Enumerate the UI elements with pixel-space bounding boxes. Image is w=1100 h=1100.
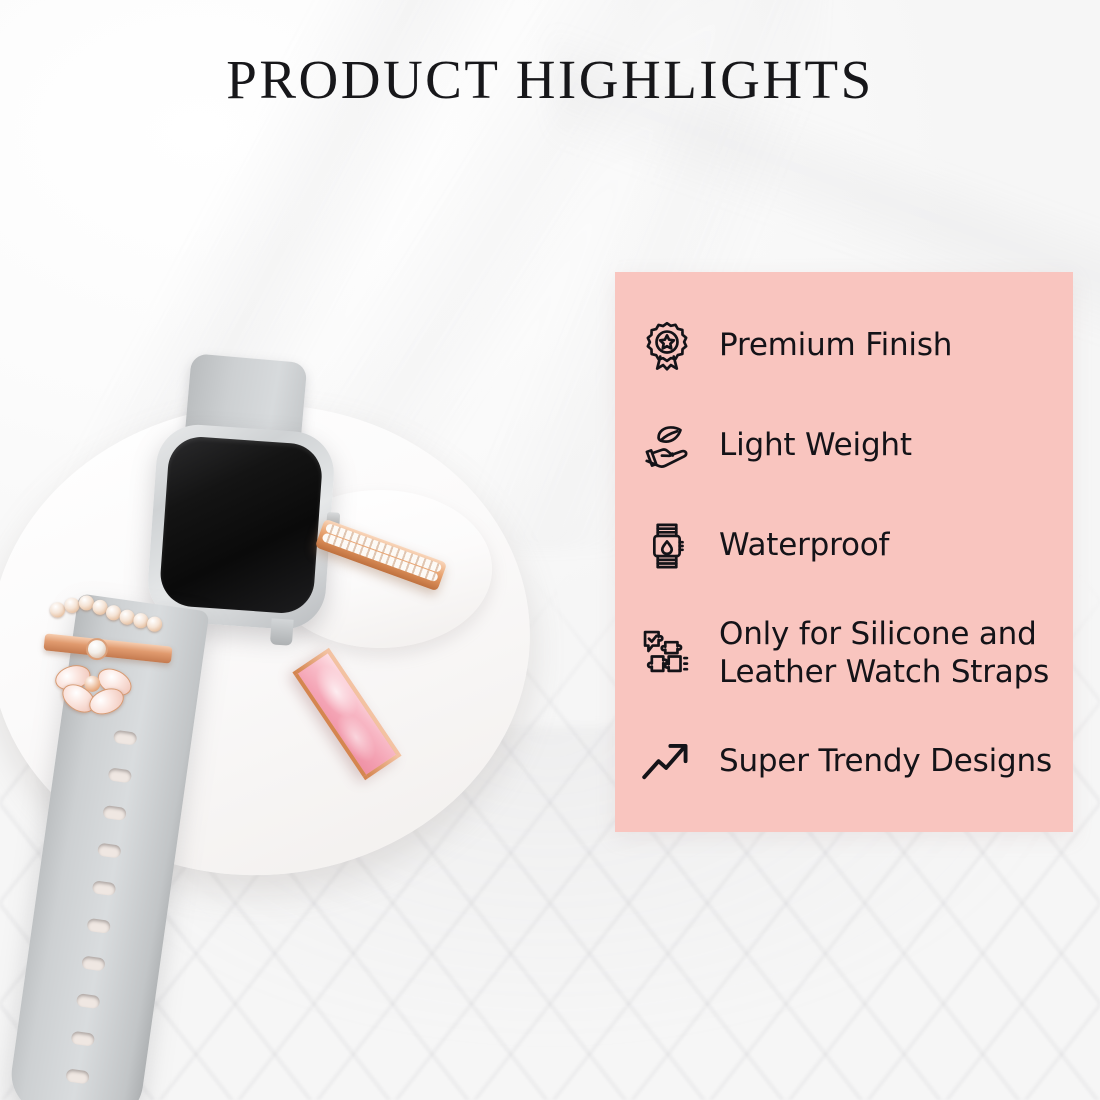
feature-row-waterproof: Waterproof xyxy=(637,516,1059,576)
strap-hole xyxy=(81,955,106,971)
strap-hole xyxy=(97,843,122,859)
feature-row-strap-compatibility: Only for Silicone and Leather Watch Stra… xyxy=(637,616,1059,692)
trending-up-icon xyxy=(637,732,697,792)
feature-row-trendy-designs: Super Trendy Designs xyxy=(637,732,1059,792)
strap-hole xyxy=(65,1068,90,1084)
watch-screen xyxy=(158,435,323,615)
strap-hole xyxy=(86,918,111,934)
feature-row-premium-finish: Premium Finish xyxy=(637,316,1059,376)
strap-hole xyxy=(76,993,101,1009)
product-highlights-page: PRODUCT HIGHLIGHTS xyxy=(0,0,1100,1100)
feature-label: Waterproof xyxy=(719,527,889,565)
hand-leaf-icon xyxy=(637,416,697,476)
puzzle-check-icon xyxy=(637,624,697,684)
crystal-bow-charm xyxy=(51,648,138,726)
strap-hole xyxy=(92,880,117,896)
feature-label: Premium Finish xyxy=(719,327,952,365)
page-title: PRODUCT HIGHLIGHTS xyxy=(0,48,1100,111)
feature-label: Super Trendy Designs xyxy=(719,743,1052,781)
product-photo xyxy=(0,300,620,1100)
award-badge-icon xyxy=(637,316,697,376)
feature-list: Premium Finish Light Weight xyxy=(615,272,1073,832)
waterproof-watch-icon xyxy=(637,516,697,576)
smartwatch-case xyxy=(145,422,336,632)
feature-row-light-weight: Light Weight xyxy=(637,416,1059,476)
watch-lug-right xyxy=(270,618,294,645)
product-highlights-panel: Premium Finish Light Weight xyxy=(615,272,1073,832)
feature-label: Only for Silicone and Leather Watch Stra… xyxy=(719,616,1059,692)
strap-hole xyxy=(71,1031,96,1047)
strap-hole xyxy=(102,805,127,821)
feature-label: Light Weight xyxy=(719,427,912,465)
strap-hole xyxy=(113,730,138,746)
strap-hole xyxy=(108,767,133,783)
bow-center-gem xyxy=(84,675,102,693)
